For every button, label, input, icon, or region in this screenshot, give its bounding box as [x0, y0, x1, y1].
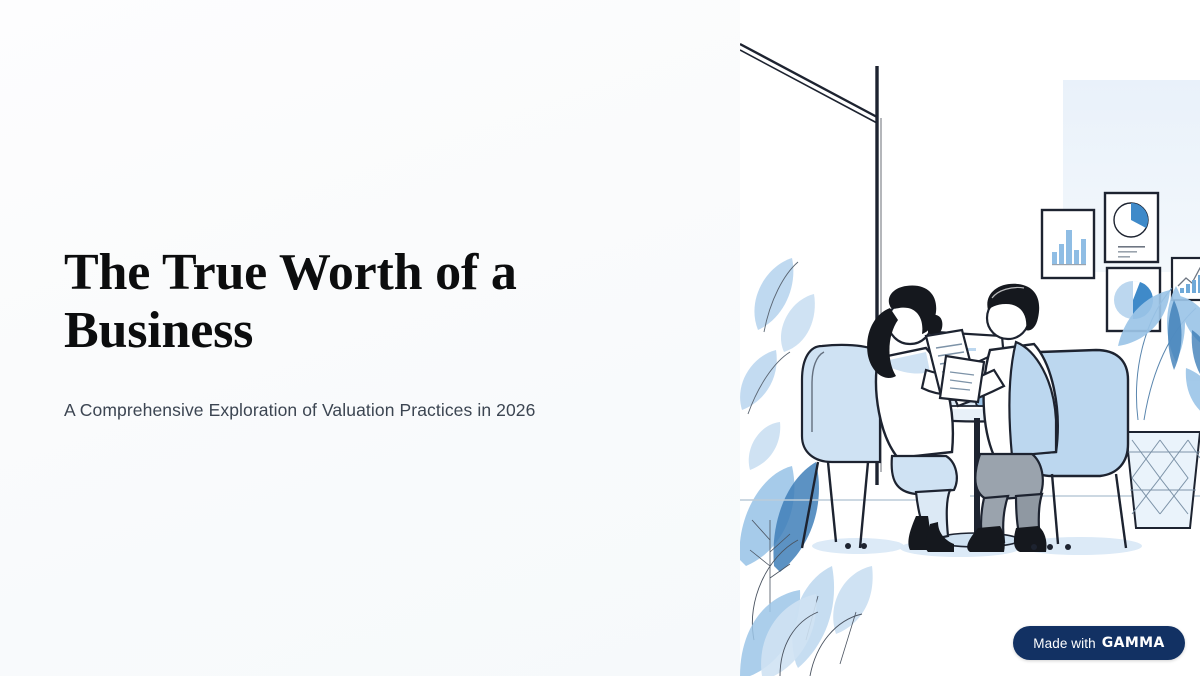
- pie-chart-frame-upper: [1105, 193, 1158, 262]
- page-subtitle: A Comprehensive Exploration of Valuation…: [64, 398, 624, 422]
- badge-prefix-label: Made with: [1033, 636, 1095, 651]
- woven-basket-planter: [1126, 432, 1200, 528]
- page-title: The True Worth of a Business: [64, 244, 624, 360]
- made-with-gamma-badge[interactable]: Made with GAMMA: [1013, 626, 1185, 660]
- bar-chart-frame: [1042, 210, 1094, 278]
- hero-illustration: [740, 0, 1200, 676]
- document-on-table: [940, 356, 984, 402]
- title-text-block: The True Worth of a Business A Comprehen…: [64, 244, 624, 422]
- badge-brand-label: GAMMA: [1102, 635, 1165, 651]
- office-scene-illustration: [740, 0, 1200, 676]
- title-panel: The True Worth of a Business A Comprehen…: [0, 0, 740, 676]
- presentation-slide: The True Worth of a Business A Comprehen…: [0, 0, 1200, 676]
